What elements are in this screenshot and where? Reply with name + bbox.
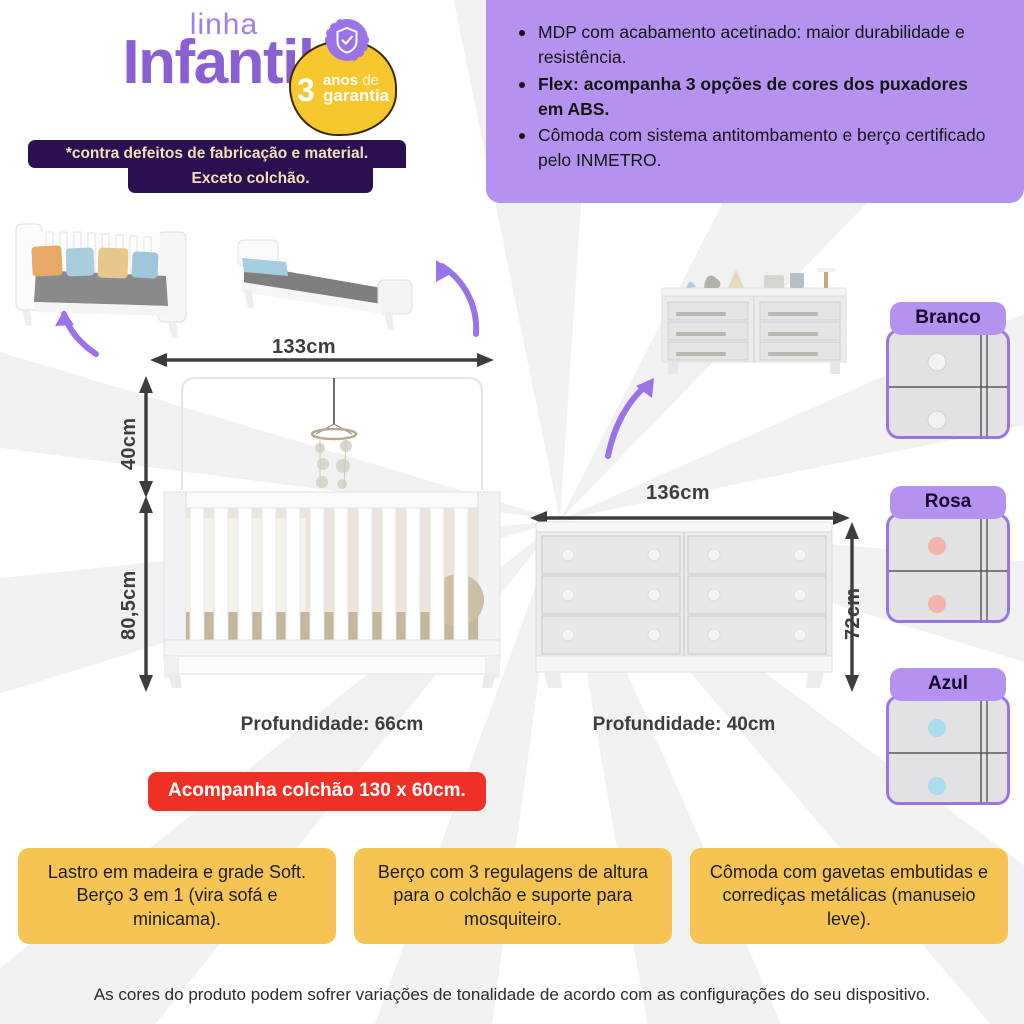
features-bullet-panel: MDP com acabamento acetinado: maior dura… <box>486 0 1024 203</box>
crib-main-image <box>150 368 514 692</box>
ribbon-line-2: Exceto colchão. <box>128 168 373 193</box>
color-swatch-label: Branco <box>890 302 1006 335</box>
color-swatch-rosa[interactable]: Rosa <box>886 486 1010 623</box>
arrow-to-sofa-icon <box>44 300 104 360</box>
color-swatch-image <box>886 695 1010 805</box>
list-item: MDP com acabamento acetinado: maior dura… <box>516 20 998 70</box>
dresser-main-image <box>528 516 840 694</box>
warranty-years-number: 3 <box>297 76 315 105</box>
color-swatch-branco[interactable]: Branco <box>886 302 1010 439</box>
ribbon-line-1: *contra defeitos de fabricação e materia… <box>28 140 406 168</box>
crib-width-label: 133cm <box>272 336 336 359</box>
crib-depth-label: Profundidade: 66cm <box>150 714 514 736</box>
dresser-height-label: 72cm <box>842 588 865 640</box>
color-swatch-label: Rosa <box>890 486 1006 519</box>
dresser-styled-image <box>648 268 860 378</box>
feature-boxes: Lastro em madeira e grade Soft. Berço 3 … <box>18 848 1008 944</box>
warranty-disclaimer-ribbon: *contra defeitos de fabricação e materia… <box>28 140 406 193</box>
feature-box: Berço com 3 regulagens de altura para o … <box>354 848 672 944</box>
mattress-included-badge: Acompanha colchão 130 x 60cm. <box>148 772 486 811</box>
crib-height-label: 80,5cm <box>118 570 141 640</box>
crib-as-mini-bed-image <box>232 228 422 338</box>
color-swatch-azul[interactable]: Azul <box>886 668 1010 805</box>
crib-top-height-label: 40cm <box>118 418 141 470</box>
warranty-de-label: de <box>362 72 379 89</box>
crib-mobile <box>312 378 356 489</box>
footer-disclaimer: As cores do produto podem sofrer variaçõ… <box>0 985 1024 1005</box>
list-item: Cômoda com sistema antitombamento e berç… <box>516 123 998 173</box>
arrow-to-mini-bed-icon <box>420 250 490 338</box>
dresser-depth-label: Profundidade: 40cm <box>528 714 840 736</box>
shield-check-icon <box>325 18 369 62</box>
bullet-list: MDP com acabamento acetinado: maior dura… <box>516 20 998 173</box>
warranty-badge: 3 anos de garantia <box>283 18 403 140</box>
arrow-to-dresser-icon <box>598 370 668 462</box>
warranty-badge-text: 3 anos de garantia <box>295 74 399 103</box>
feature-box: Cômoda com gavetas embutidas e corrediça… <box>690 848 1008 944</box>
warranty-garantia-label: garantia <box>323 88 399 104</box>
list-item: Flex: acompanha 3 opções de cores dos pu… <box>516 72 998 122</box>
dresser-width-label: 136cm <box>646 482 710 505</box>
color-swatch-label: Azul <box>890 668 1006 701</box>
feature-box: Lastro em madeira e grade Soft. Berço 3 … <box>18 848 336 944</box>
color-swatch-image <box>886 329 1010 439</box>
infographic-root: linha Infantil 3 anos de garantia <box>0 0 1024 1024</box>
color-swatch-image <box>886 513 1010 623</box>
